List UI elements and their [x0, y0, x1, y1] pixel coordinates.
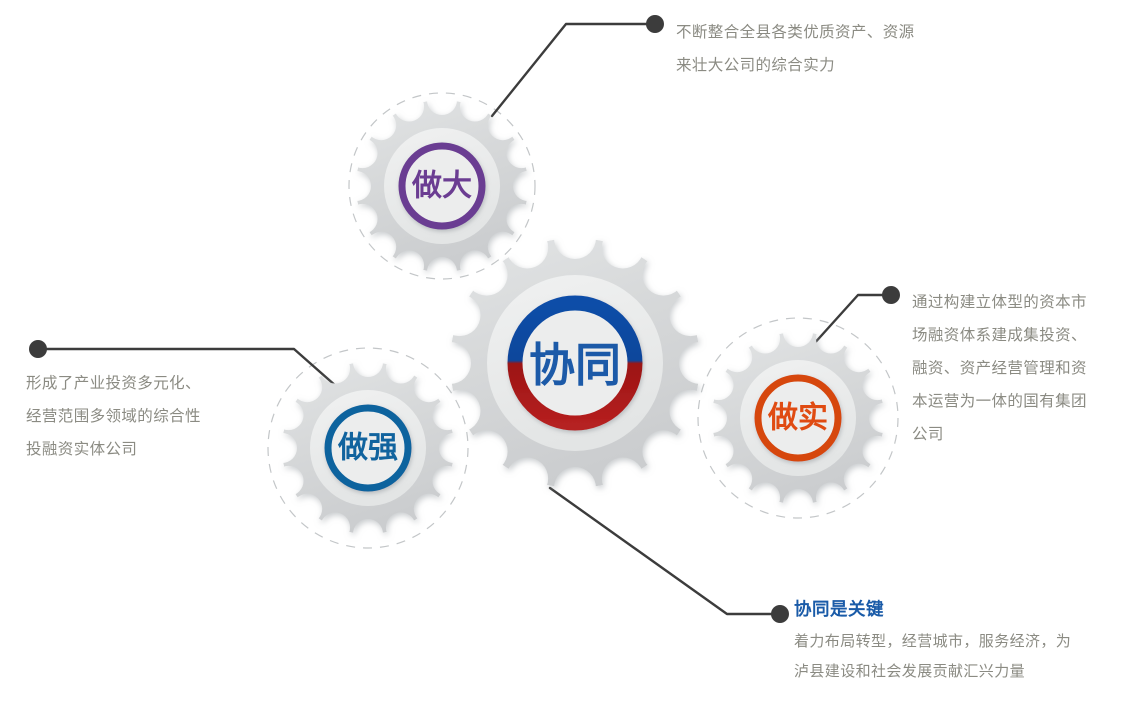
- diagram-canvas: 做大 做强 做实 协同: [0, 0, 1136, 703]
- note-right-line-2: 场融资体系建成集投资、: [912, 319, 1087, 352]
- note-right-line-4: 本运营为一体的国有集团: [912, 385, 1087, 418]
- gear-zuoshi-label: 做实: [767, 401, 828, 435]
- note-bottom-heading: 协同是关键: [794, 596, 1071, 622]
- connector-dot-left: [29, 340, 47, 358]
- note-left-line-2: 经营范围多领域的综合性: [26, 400, 201, 433]
- gear-xietong-center[interactable]: 协同: [450, 238, 700, 488]
- connector-bottom: [550, 488, 789, 623]
- connector-dot-bottom: [771, 605, 789, 623]
- note-top-line-2: 来壮大公司的综合实力: [676, 49, 915, 82]
- connector-top: [492, 15, 664, 116]
- note-left-line-1: 形成了产业投资多元化、: [26, 367, 201, 400]
- gear-zuoshi[interactable]: 做实: [712, 332, 884, 504]
- note-left-line-3: 投融资实体公司: [26, 433, 201, 466]
- note-right-line-3: 融资、资产经营管理和资: [912, 352, 1087, 385]
- gear-zuoqiang[interactable]: 做强: [282, 362, 454, 534]
- connector-dot-right: [882, 286, 900, 304]
- gear-zuoda[interactable]: 做大: [356, 100, 528, 272]
- connector-dot-top: [646, 15, 664, 33]
- note-right-line-5: 公司: [912, 418, 1087, 451]
- note-bottom-line-2: 泸县建设和社会发展贡献汇兴力量: [794, 657, 1071, 687]
- note-top-line-1: 不断整合全县各类优质资产、资源: [676, 16, 915, 49]
- note-bottom-line-1: 着力布局转型，经营城市，服务经济，为: [794, 627, 1071, 657]
- gear-xietong-label: 协同: [529, 339, 621, 391]
- gear-zuoda-label: 做大: [411, 170, 472, 203]
- note-left: 形成了产业投资多元化、 经营范围多领域的综合性 投融资实体公司: [26, 367, 201, 466]
- note-bottom: 协同是关键 着力布局转型，经营城市，服务经济，为 泸县建设和社会发展贡献汇兴力量: [794, 596, 1071, 687]
- note-top: 不断整合全县各类优质资产、资源 来壮大公司的综合实力: [676, 16, 915, 82]
- gear-zuoqiang-label: 做强: [337, 432, 398, 465]
- note-right: 通过构建立体型的资本市 场融资体系建成集投资、 融资、资产经营管理和资 本运营为…: [912, 286, 1087, 451]
- note-right-line-1: 通过构建立体型的资本市: [912, 286, 1087, 319]
